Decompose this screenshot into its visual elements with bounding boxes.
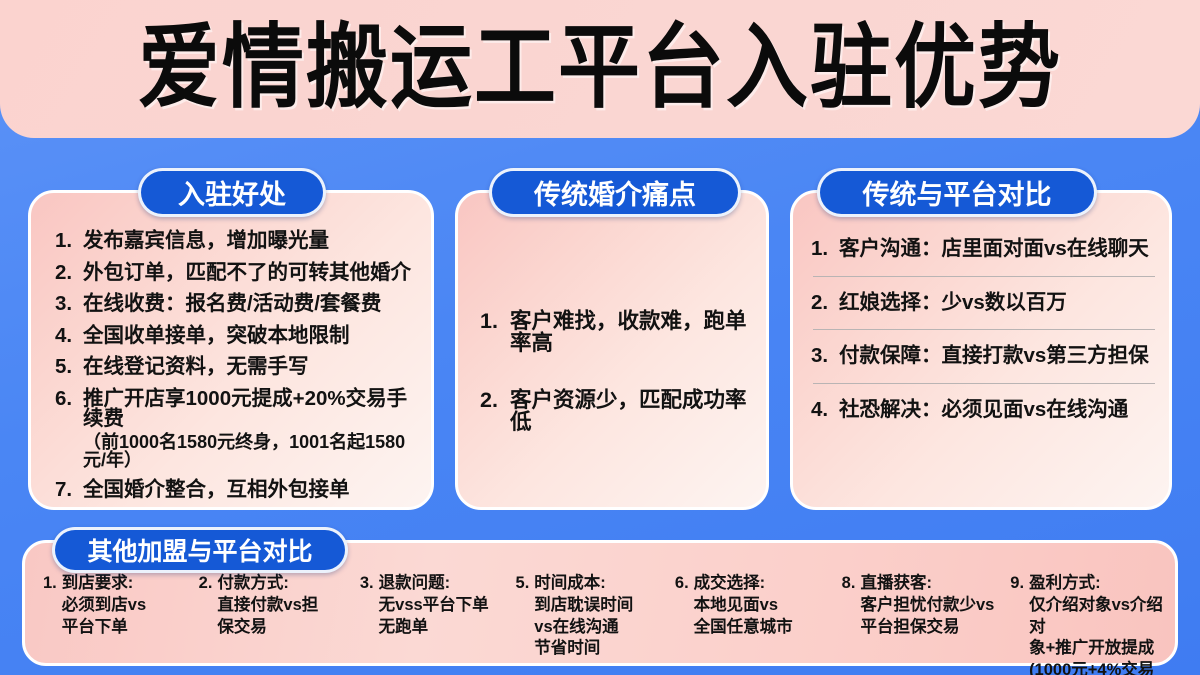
bottom-item-number: 5.: [516, 573, 530, 595]
bottom-item-number: 2.: [199, 573, 213, 595]
list-item-text: 全国收单接单，突破本地限制: [83, 326, 415, 347]
list-item-body: 客户沟通：店里面对面vs在线聊天: [839, 239, 1159, 260]
list-item-text: 推广开店享1000元提成+20%交易手续费: [83, 389, 415, 430]
list-item-text: 外包订单，匹配不了的可转其他婚介: [83, 263, 415, 284]
list-item-text: 全国婚介整合，互相外包接单: [83, 480, 415, 501]
list-item: 5.在线登记资料，无需手写: [55, 357, 415, 378]
list-divider: [813, 383, 1155, 384]
bottom-item-line: 仅介绍对象vs介绍对: [1029, 595, 1167, 639]
list-item-number: 7.: [55, 480, 83, 501]
page-title: 爱情搬运工平台入驻优势: [138, 23, 1062, 115]
list-item-body: 推广开店享1000元提成+20%交易手续费（前1000名1580元终身，1001…: [83, 389, 415, 469]
card-comparison-title: 传统与平台对比: [817, 168, 1097, 217]
bottom-item-line: 平台担保交易: [860, 617, 994, 639]
list-item-text: 客户沟通：店里面对面vs在线聊天: [839, 239, 1159, 260]
list-item-number: 2.: [480, 390, 510, 412]
bottom-item-head: 时间成本:: [534, 573, 633, 595]
list-item-body: 红娘选择：少vs数以百万: [839, 293, 1159, 314]
bottom-item-line: 本地见面vs: [694, 595, 793, 617]
title-banner: 爱情搬运工平台入驻优势: [0, 0, 1200, 138]
list-item: 6.推广开店享1000元提成+20%交易手续费（前1000名1580元终身，10…: [55, 389, 415, 469]
bottom-item-line: vs在线沟通: [534, 617, 633, 639]
bottom-item-line: 象+推广开放提成: [1029, 638, 1167, 660]
list-item-number: 3.: [55, 294, 83, 315]
list-item: 7.全国婚介整合，互相外包接单: [55, 480, 415, 501]
list-item-body: 在线登记资料，无需手写: [83, 357, 415, 378]
list-item: 2.客户资源少，匹配成功率低: [480, 390, 754, 433]
comparison-list: 1.客户沟通：店里面对面vs在线聊天2.红娘选择：少vs数以百万3.付款保障：直…: [793, 239, 1169, 420]
list-item-number: 3.: [811, 346, 839, 367]
bottom-item-line: 无跑单: [379, 617, 489, 639]
list-item-number: 6.: [55, 389, 83, 410]
list-divider: [813, 276, 1155, 277]
card-benefits-title: 入驻好处: [138, 168, 326, 217]
painpoints-list: 1.客户难找，收款难，跑单率高2.客户资源少，匹配成功率低: [458, 311, 766, 469]
bottom-item-line: 无vss平台下单: [379, 595, 489, 617]
list-item: 3.在线收费：报名费/活动费/套餐费: [55, 294, 415, 315]
card-benefits: 1.发布嘉宾信息，增加曝光量2.外包订单，匹配不了的可转其他婚介3.在线收费：报…: [28, 190, 434, 510]
bottom-item: 2.付款方式:直接付款vs担保交易: [199, 573, 360, 638]
list-item: 4.全国收单接单，突破本地限制: [55, 326, 415, 347]
bottom-item-number: 9.: [1010, 573, 1024, 595]
bottom-item: 5.时间成本:到店耽误时间vs在线沟通节省时间: [516, 573, 675, 660]
list-item-body: 客户难找，收款难，跑单率高: [510, 311, 754, 354]
bottom-item-body: 时间成本:到店耽误时间vs在线沟通节省时间: [534, 573, 633, 660]
bottom-item-head: 付款方式:: [217, 573, 318, 595]
bottom-item-body: 退款问题:无vss平台下单无跑单: [379, 573, 489, 638]
list-item-number: 4.: [811, 400, 839, 421]
bottom-item-line: 节省时间: [534, 638, 633, 660]
list-item-text: 发布嘉宾信息，增加曝光量: [83, 231, 415, 252]
bottom-item-number: 6.: [675, 573, 689, 595]
bottom-item-head: 退款问题:: [379, 573, 489, 595]
list-item: 4.社恐解决：必须见面vs在线沟通: [811, 400, 1159, 421]
bottom-item-head: 直播获客:: [860, 573, 994, 595]
list-item-number: 5.: [55, 357, 83, 378]
bottom-item: 9.盈利方式:仅介绍对象vs介绍对象+推广开放提成(1000元+4%交易额): [1010, 573, 1167, 675]
list-item-number: 2.: [55, 263, 83, 284]
bottom-item-head: 成交选择:: [694, 573, 793, 595]
list-item-text: 社恐解决：必须见面vs在线沟通: [839, 400, 1159, 421]
list-item-text: 在线登记资料，无需手写: [83, 357, 415, 378]
bottom-item-body: 付款方式:直接付款vs担保交易: [217, 573, 318, 638]
bottom-item: 1.到店要求:必须到店vs平台下单: [43, 573, 199, 638]
bottom-panel-title: 其他加盟与平台对比: [52, 527, 348, 573]
list-item: 1.客户沟通：店里面对面vs在线聊天: [811, 239, 1159, 260]
bottom-item-line: 到店耽误时间: [534, 595, 633, 617]
bottom-item-body: 直播获客:客户担忧付款少vs平台担保交易: [860, 573, 994, 638]
list-item-body: 全国收单接单，突破本地限制: [83, 326, 415, 347]
list-item-text: 客户资源少，匹配成功率低: [510, 390, 754, 433]
bottom-item-number: 3.: [360, 573, 374, 595]
list-item-number: 1.: [811, 239, 839, 260]
bottom-item-line: (1000元+4%交易额): [1029, 660, 1167, 675]
card-painpoints: 1.客户难找，收款难，跑单率高2.客户资源少，匹配成功率低: [455, 190, 769, 510]
list-item: 1.发布嘉宾信息，增加曝光量: [55, 231, 415, 252]
bottom-item-body: 盈利方式:仅介绍对象vs介绍对象+推广开放提成(1000元+4%交易额): [1029, 573, 1167, 675]
list-item: 3.付款保障：直接打款vs第三方担保: [811, 346, 1159, 367]
list-item-text: 红娘选择：少vs数以百万: [839, 293, 1159, 314]
bottom-item: 6.成交选择:本地见面vs全国任意城市: [675, 573, 842, 638]
bottom-item-line: 直接付款vs担: [217, 595, 318, 617]
list-item-number: 4.: [55, 326, 83, 347]
bottom-item-head: 盈利方式:: [1029, 573, 1167, 595]
bottom-item-body: 成交选择:本地见面vs全国任意城市: [694, 573, 793, 638]
list-item-text: 客户难找，收款难，跑单率高: [510, 311, 754, 354]
bottom-item-head: 到店要求:: [62, 573, 146, 595]
list-item-body: 客户资源少，匹配成功率低: [510, 390, 754, 433]
benefits-list: 1.发布嘉宾信息，增加曝光量2.外包订单，匹配不了的可转其他婚介3.在线收费：报…: [31, 231, 431, 511]
list-item-text: 在线收费：报名费/活动费/套餐费: [83, 294, 415, 315]
list-item-body: 外包订单，匹配不了的可转其他婚介: [83, 263, 415, 284]
bottom-item-line: 全国任意城市: [694, 617, 793, 639]
card-painpoints-title: 传统婚介痛点: [489, 168, 741, 217]
bottom-item-line: 平台下单: [62, 617, 146, 639]
bottom-item-body: 到店要求:必须到店vs平台下单: [62, 573, 146, 638]
bottom-item: 8.直播获客:客户担忧付款少vs平台担保交易: [842, 573, 1011, 638]
list-item-body: 付款保障：直接打款vs第三方担保: [839, 346, 1159, 367]
poster-root: 爱情搬运工平台入驻优势 1.发布嘉宾信息，增加曝光量2.外包订单，匹配不了的可转…: [0, 0, 1200, 675]
list-item: 1.客户难找，收款难，跑单率高: [480, 311, 754, 354]
list-item-number: 2.: [811, 293, 839, 314]
list-item: 2.外包订单，匹配不了的可转其他婚介: [55, 263, 415, 284]
bottom-item-number: 8.: [842, 573, 856, 595]
list-item-body: 社恐解决：必须见面vs在线沟通: [839, 400, 1159, 421]
list-item-body: 在线收费：报名费/活动费/套餐费: [83, 294, 415, 315]
bottom-item-number: 1.: [43, 573, 57, 595]
list-divider: [813, 329, 1155, 330]
list-item: 2.红娘选择：少vs数以百万: [811, 293, 1159, 314]
list-item-body: 全国婚介整合，互相外包接单: [83, 480, 415, 501]
card-comparison: 1.客户沟通：店里面对面vs在线聊天2.红娘选择：少vs数以百万3.付款保障：直…: [790, 190, 1172, 510]
bottom-items-grid: 1.到店要求:必须到店vs平台下单2.付款方式:直接付款vs担保交易3.退款问题…: [25, 573, 1175, 665]
list-item-number: 1.: [55, 231, 83, 252]
list-item-text: 付款保障：直接打款vs第三方担保: [839, 346, 1159, 367]
list-item-subtext: （前1000名1580元终身，1001名起1580元/年）: [83, 433, 415, 469]
bottom-item-line: 保交易: [217, 617, 318, 639]
list-item-number: 1.: [480, 311, 510, 333]
bottom-item: 3.退款问题:无vss平台下单无跑单: [360, 573, 516, 638]
list-item-body: 发布嘉宾信息，增加曝光量: [83, 231, 415, 252]
bottom-item-line: 必须到店vs: [62, 595, 146, 617]
bottom-item-line: 客户担忧付款少vs: [860, 595, 994, 617]
